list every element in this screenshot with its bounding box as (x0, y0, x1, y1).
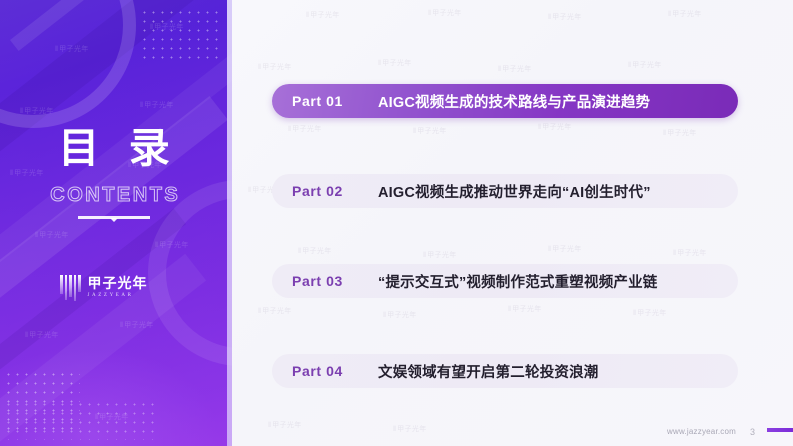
logo-bars-icon (60, 275, 81, 301)
part-number-01: Part 01 (292, 93, 378, 109)
page-title: 目 录 (0, 128, 228, 169)
part-title-02: AIGC视频生成推动世界走向“AI创生时代” (378, 181, 651, 202)
logo-name-cn: 甲子光年 (88, 277, 148, 292)
part-number-04: Part 04 (292, 363, 378, 379)
watermark-bars-icon: ⦀ (268, 421, 270, 430)
part-title-04: 文娱领域有望开启第二轮投资浪潮 (378, 361, 599, 382)
watermark-bars-icon: ⦀ (248, 186, 250, 195)
watermark-bars-icon: ⦀ (258, 63, 260, 72)
contents-item-part-04[interactable]: Part 04 文娱领域有望开启第二轮投资浪潮 (272, 354, 738, 388)
divider-notch-icon (78, 216, 150, 219)
contents-item-part-02[interactable]: Part 02 AIGC视频生成推动世界走向“AI创生时代” (272, 174, 738, 208)
contents-item-part-01[interactable]: Part 01 AIGC视频生成的技术路线与产品演进趋势 (272, 84, 738, 118)
brand-logo: 甲子光年 JAZZYEAR (60, 268, 180, 308)
contents-item-part-03[interactable]: Part 03 “提示交互式”视频制作范式重塑视频产业链 (272, 264, 738, 298)
logo-name-en: JAZZYEAR (88, 292, 148, 299)
logo-text-group: 甲子光年 JAZZYEAR (88, 277, 148, 299)
contents-list: Part 01 AIGC视频生成的技术路线与产品演进趋势 Part 02 AIG… (272, 0, 738, 446)
panel-edge-strip (227, 0, 232, 446)
page-number: 3 (750, 427, 755, 437)
footer-accent-bar (767, 428, 793, 432)
footer-website-url[interactable]: www.jazzyear.com (667, 427, 736, 436)
part-title-03: “提示交互式”视频制作范式重塑视频产业链 (378, 271, 658, 292)
watermark-bars-icon: ⦀ (258, 307, 260, 316)
panel-content: 目 录 CONTENTS 甲子光年 JAZZYEAR (0, 0, 232, 446)
part-title-01: AIGC视频生成的技术路线与产品演进趋势 (378, 91, 650, 112)
page-subtitle: CONTENTS (0, 185, 228, 205)
part-number-02: Part 02 (292, 183, 378, 199)
contents-slide: ⦀甲子光年 ⦀甲子光年 ⦀甲子光年 ⦀甲子光年 ⦀甲子光年 ⦀甲子光年 ⦀甲子光… (0, 0, 793, 446)
left-decorative-panel: ⦀甲子光年 ⦀甲子光年 ⦀甲子光年 ⦀甲子光年 ⦀甲子光年 ⦀甲子光年 ⦀甲子光… (0, 0, 232, 446)
part-number-03: Part 03 (292, 273, 378, 289)
